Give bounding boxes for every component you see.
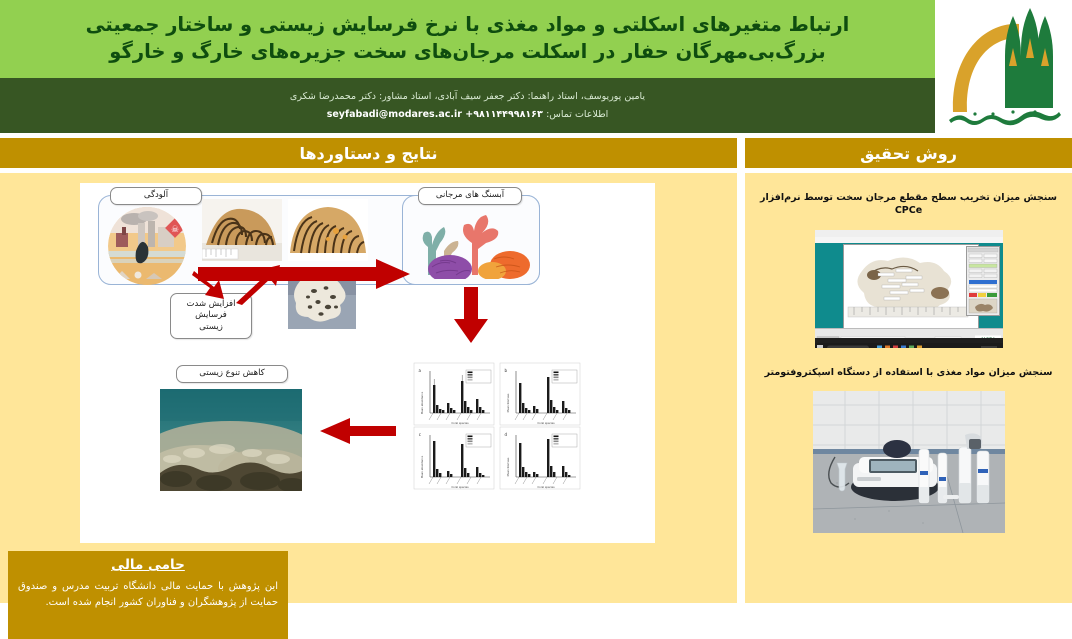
authors-band: یامین پوریوسف، استاد راهنما: دکتر جعفر س… bbox=[0, 78, 935, 133]
title-band: ارتباط متغیرهای اسکلتی و مواد مغذی با نر… bbox=[0, 0, 935, 78]
screenshot-statusbar: NCRI bbox=[815, 328, 1003, 338]
svg-text:Coral species: Coral species bbox=[537, 421, 555, 425]
page-title: ارتباط متغیرهای اسکلتی و مواد مغذی با نر… bbox=[0, 12, 935, 66]
svg-text:Coral species: Coral species bbox=[451, 485, 469, 489]
sponsor-box: حامی مالی این پژوهش با حمایت مالی دانشگا… bbox=[8, 551, 288, 639]
photo-brain-coral-1 bbox=[202, 199, 282, 261]
svg-text:Coral species: Coral species bbox=[451, 421, 469, 425]
svg-text:Mean abundance: Mean abundance bbox=[420, 455, 424, 478]
contact-phone: +۹۸۱۱۴۴۹۹۸۱۶۳ bbox=[465, 109, 543, 120]
svg-text:Mean biomass: Mean biomass bbox=[506, 457, 510, 476]
poster-header: ارتباط متغیرهای اسکلتی و مواد مغذی با نر… bbox=[0, 0, 935, 133]
chip-biodiversity-loss: کاهش تنوع زیستی bbox=[176, 365, 288, 383]
poster-root: ارتباط متغیرهای اسکلتی و مواد مغذی با نر… bbox=[0, 0, 1072, 604]
contact-label: اطلاعات تماس: bbox=[546, 109, 608, 120]
method-caption-spectrophotometer: سنجش میزان مواد مغذی با استفاده از دستگا… bbox=[745, 366, 1072, 379]
svg-text:Mean abundance: Mean abundance bbox=[420, 391, 424, 414]
authors-line: یامین پوریوسف، استاد راهنما: دکتر جعفر س… bbox=[290, 91, 645, 102]
arrow-charts-to-biodiversity bbox=[320, 417, 396, 445]
photo-brain-coral-2 bbox=[288, 199, 368, 261]
svg-text:☠: ☠ bbox=[171, 225, 179, 235]
conceptual-diagram: آلودگی bbox=[80, 183, 655, 543]
results-column: نتایج و دستاوردها آلودگی bbox=[0, 138, 737, 604]
screenshot-taskbar bbox=[815, 338, 1003, 348]
photo-degraded-reef bbox=[160, 389, 302, 491]
screenshot-image-canvas bbox=[843, 244, 979, 328]
contact-line: اطلاعات تماس: seyfabadi@modares.ac.ir +۹… bbox=[327, 109, 609, 120]
svg-text:Mean biomass: Mean biomass bbox=[506, 393, 510, 412]
photo-bar-charts-panel: a bbox=[410, 359, 584, 491]
contact-email[interactable]: seyfabadi@modares.ac.ir bbox=[327, 109, 462, 120]
results-section-heading: نتایج و دستاوردها bbox=[0, 138, 737, 168]
chip-pollution: آلودگی bbox=[110, 187, 202, 205]
screenshot-tool-panel bbox=[966, 246, 1000, 316]
arrow-reefs-down bbox=[454, 287, 488, 343]
tarbiat-modares-logo-icon bbox=[941, 4, 1066, 129]
cpce-software-screenshot: NCRI bbox=[815, 230, 1003, 348]
svg-text:c: c bbox=[419, 432, 421, 437]
method-section-heading: روش تحقیق bbox=[745, 138, 1072, 168]
method-column: روش تحقیق سنجش میزان تخریب سطح مقطع مرجا… bbox=[745, 138, 1072, 604]
screenshot-menubar bbox=[815, 237, 1003, 243]
arrow-main-right bbox=[198, 259, 410, 289]
method-section-body: سنجش میزان تخریب سطح مقطع مرجان سخت توسط… bbox=[745, 173, 1072, 603]
university-logo bbox=[935, 0, 1072, 133]
photo-coral-reef-illustration bbox=[410, 207, 532, 279]
sponsor-text: این پژوهش با حمایت مالی دانشگاه تربیت مد… bbox=[18, 579, 278, 610]
sponsor-title: حامی مالی bbox=[18, 557, 278, 573]
results-section-body: آلودگی bbox=[0, 173, 737, 603]
photo-pollution-illustration: ☠ bbox=[108, 207, 186, 285]
chip-coral-reefs: آبسنگ های مرجانی bbox=[418, 187, 522, 205]
method-caption-cpce: سنجش میزان تخریب سطح مقطع مرجان سخت توسط… bbox=[745, 191, 1072, 218]
svg-text:Coral species: Coral species bbox=[537, 485, 555, 489]
spectrophotometer-lab-photo bbox=[813, 391, 1005, 533]
